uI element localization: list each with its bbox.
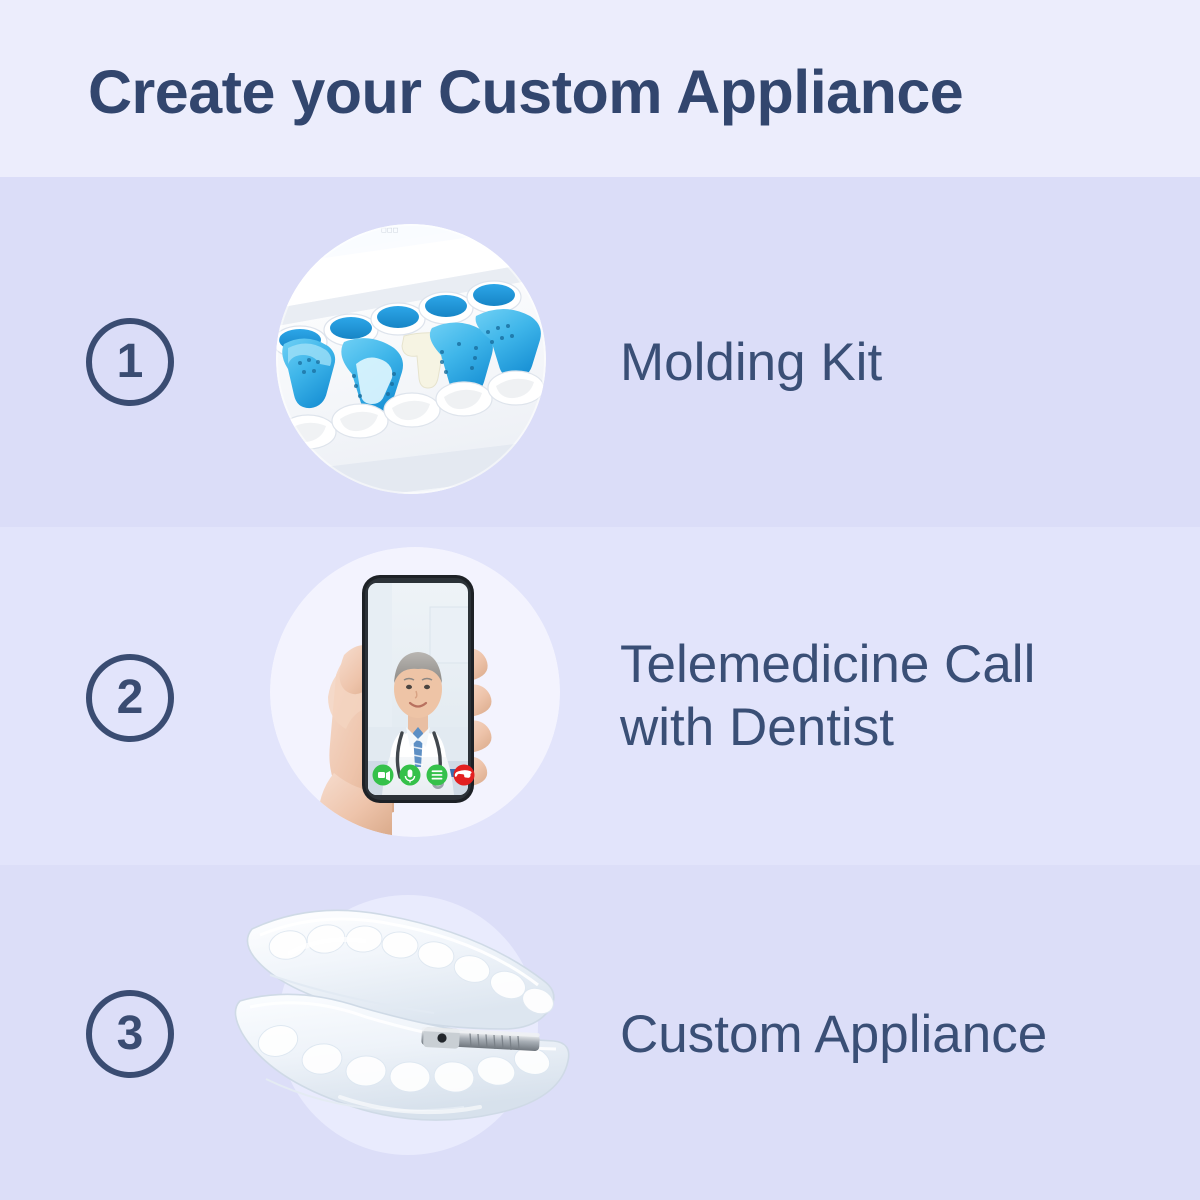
- step-label-3: Custom Appliance: [620, 1004, 1047, 1067]
- step-row-1: 1: [0, 177, 1200, 527]
- step-row-2: 2: [0, 527, 1200, 865]
- header-band: Create your Custom Appliance: [0, 0, 1200, 177]
- step-number-1: 1: [117, 338, 144, 386]
- step-number-2: 2: [117, 674, 144, 722]
- infographic-canvas: Create your Custom Appliance 1: [0, 0, 1200, 1200]
- step-number-badge-3: 3: [86, 990, 174, 1078]
- page-title: Create your Custom Appliance: [88, 60, 1148, 126]
- molding-kit-photo: ◻◻◻: [276, 224, 546, 494]
- appliance-hardware-right: [421, 1027, 540, 1051]
- step-label-1: Molding Kit: [620, 332, 882, 395]
- step-row-3: 3: [0, 865, 1200, 1200]
- step-number-3: 3: [117, 1010, 144, 1058]
- custom-appliance-photo: [230, 883, 570, 1193]
- step-number-badge-1: 1: [86, 318, 174, 406]
- step-number-badge-2: 2: [86, 654, 174, 742]
- step-label-2: Telemedicine Call with Dentist: [620, 634, 1035, 759]
- telemedicine-phone-photo: [270, 547, 560, 837]
